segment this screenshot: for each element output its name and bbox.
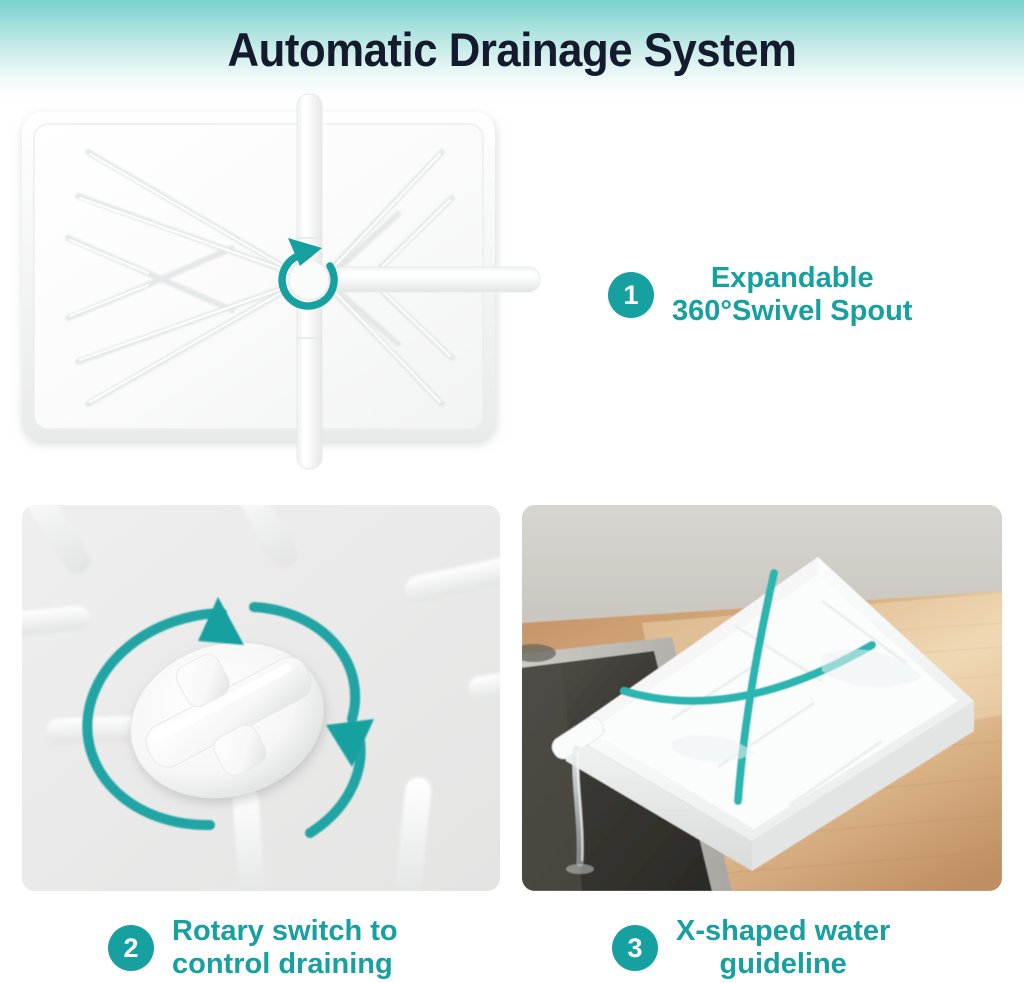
callout-2-badge: 2 <box>108 925 154 971</box>
callout-3-text: X-shaped water guideline <box>676 915 890 981</box>
callout-1-text: Expandable 360°Swivel Spout <box>672 262 912 328</box>
callout-1-line1: Expandable <box>711 262 874 294</box>
callout-1: 1 Expandable 360°Swivel Spout <box>608 262 912 328</box>
callout-3: 3 X-shaped water guideline <box>612 915 890 981</box>
drain-tray-top-view <box>0 86 600 486</box>
hero-tray-illustration <box>0 86 600 486</box>
callout-1-badge: 1 <box>608 272 654 318</box>
page-title: Automatic Drainage System <box>36 22 988 77</box>
callout-2: 2 Rotary switch to control draining <box>108 915 398 981</box>
panel-x-guideline <box>522 505 1002 891</box>
callout-1-line2: 360°Swivel Spout <box>672 295 912 328</box>
callout-2-line2: control draining <box>172 948 398 981</box>
spout-pivot-hub <box>289 260 329 300</box>
callout-3-badge: 3 <box>612 925 658 971</box>
callout-3-line2: guideline <box>676 948 890 981</box>
callout-2-line1: Rotary switch to <box>172 915 398 947</box>
callout-2-text: Rotary switch to control draining <box>172 915 398 981</box>
panel-rotary-switch <box>22 505 500 891</box>
callout-3-line1: X-shaped water <box>676 915 890 947</box>
swivel-spout-horizontal <box>330 267 540 292</box>
rotary-switch-closeup <box>22 505 500 891</box>
x-guideline-photo <box>522 505 1002 891</box>
